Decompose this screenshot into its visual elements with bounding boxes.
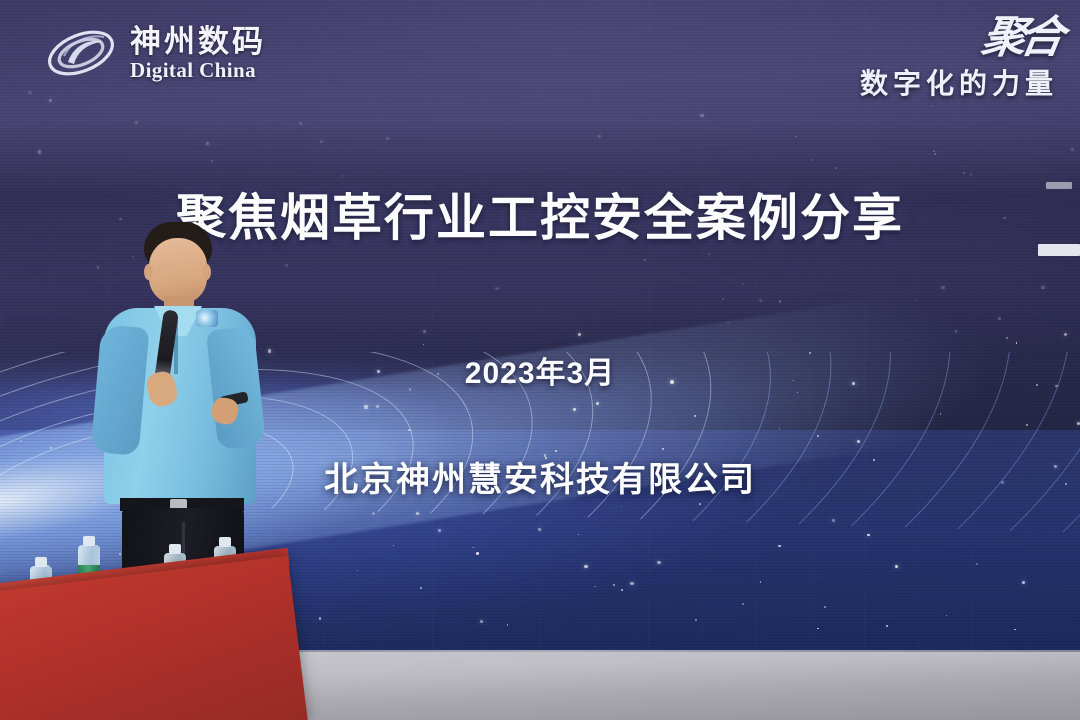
speaker-ear-right [202,264,211,280]
speaker-ear-left [144,264,153,280]
speaker-chest-logo-patch [196,310,218,327]
bottle-cap [35,557,47,567]
digital-china-chinese-name: 神州数码 [130,26,266,57]
bottle-cap [169,544,181,554]
event-tagline: 数字化的力量 [860,62,1058,102]
digital-china-english-name: Digital China [130,60,266,81]
bottle-cap [219,537,231,547]
event-logo: 聚合 数字化的力量 [860,18,1058,102]
digital-china-swirl-icon [44,22,118,84]
speaker-face [149,238,207,304]
bottle-cap [83,536,95,546]
conference-stage-scene: 神州数码 Digital China 聚合 数字化的力量 聚焦烟草行业工控安全案… [0,0,1080,720]
digital-china-logo: 神州数码 Digital China [44,22,266,84]
event-calligraphy: 聚合 [857,18,1061,58]
